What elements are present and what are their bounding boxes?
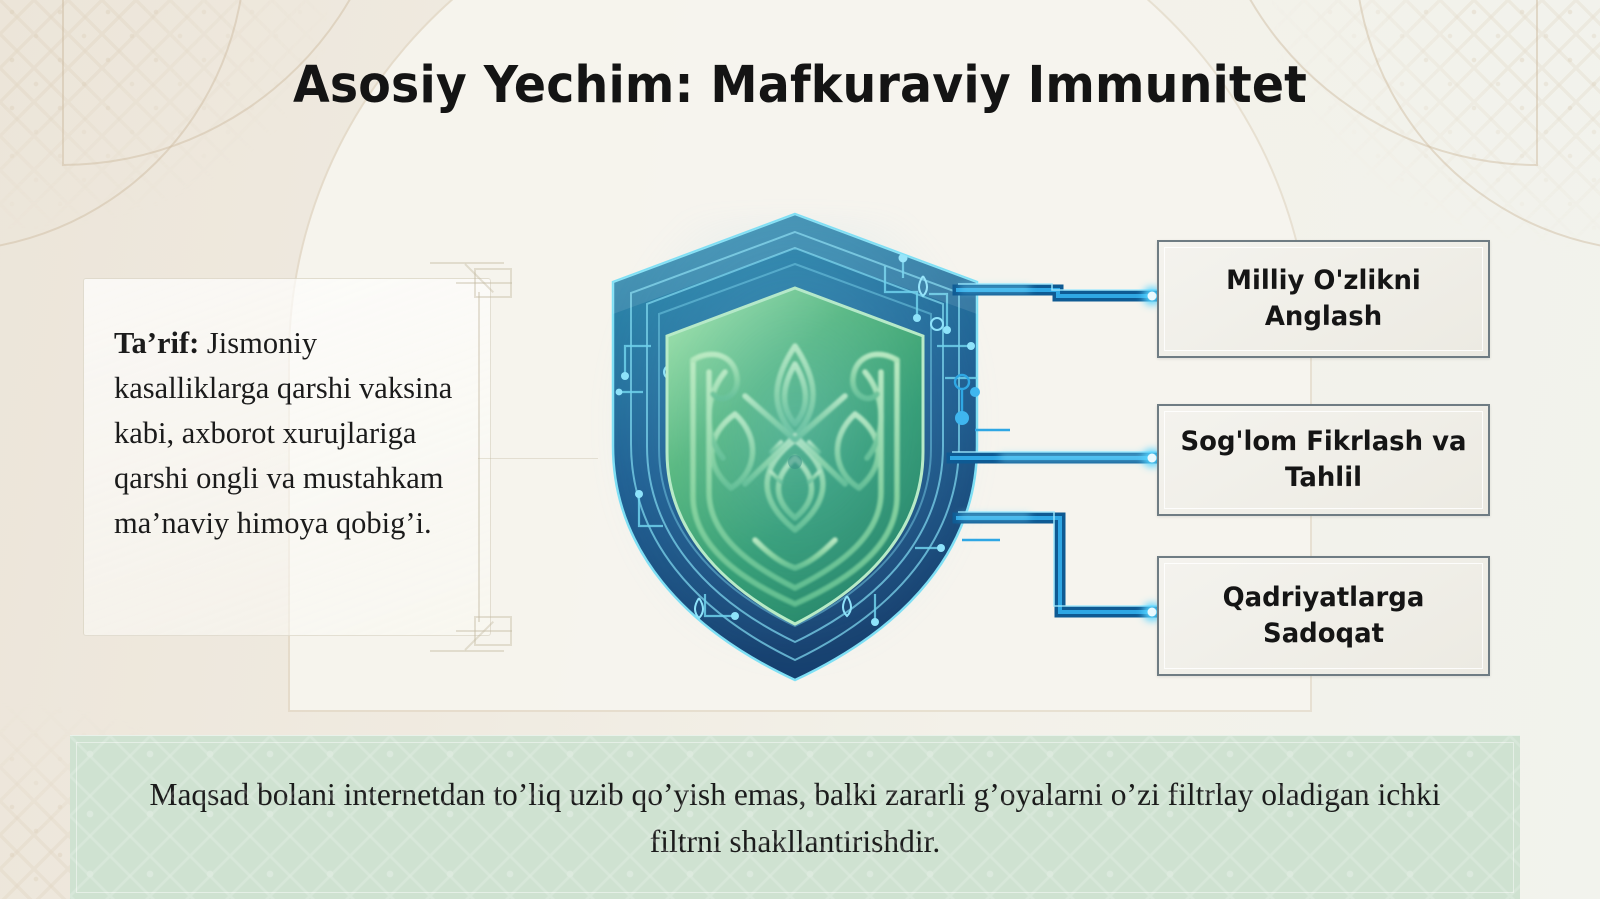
pillar-box-1[interactable]: Milliy O'zlikni Anglash [1157,240,1490,358]
summary-banner-text: Maqsad bolani internetdan to’liq uzib qo… [135,771,1455,865]
pillar-label-1: Milliy O'zlikni Anglash [1166,263,1482,335]
pillar-box-3[interactable]: Qadriyatlarga Sadoqat [1157,556,1490,676]
summary-banner: Maqsad bolani internetdan to’liq uzib qo… [70,735,1520,899]
slide-canvas: Asosiy Yechim: Mafkuraviy Immunitet Ta’r… [0,0,1600,899]
pillar-label-2: Sog'lom Fikrlash va Tahlil [1166,424,1482,496]
pillar-box-2[interactable]: Sog'lom Fikrlash va Tahlil [1157,404,1490,516]
pillar-label-3: Qadriyatlarga Sadoqat [1166,580,1482,652]
